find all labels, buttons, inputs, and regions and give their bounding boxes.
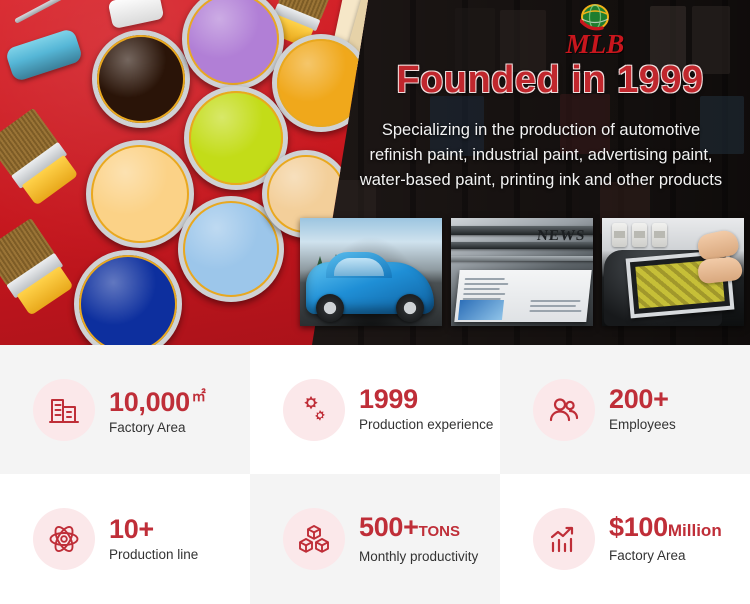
hero-subheadline: Specializing in the production of automo…: [336, 118, 746, 193]
company-stats-grid: 10,000㎡ Factory Area 1999 Production exp: [0, 345, 750, 604]
stat-card-factory-area: 10,000㎡ Factory Area: [0, 345, 250, 474]
stat-unit: ㎡: [192, 388, 206, 404]
paint-can-cream: [86, 140, 194, 248]
printed-color-block: [458, 300, 504, 320]
newspaper-masthead-text: NEWS: [536, 228, 586, 245]
ink-bottle: [612, 223, 627, 247]
stat-unit: Million: [668, 521, 722, 540]
paint-brush-icon: [0, 108, 76, 200]
stat-value: $100Million: [609, 513, 722, 545]
growth-bar-chart-icon: [533, 508, 595, 570]
stat-card-employees: 200+ Employees: [500, 345, 750, 474]
stat-label: Production experience: [359, 416, 493, 434]
hero-headline: Founded in 1999: [390, 58, 710, 102]
stat-value: 200+: [609, 385, 676, 414]
stat-text-block: 500+TONS Monthly productivity: [359, 513, 478, 566]
stat-text-block: 10,000㎡ Factory Area: [109, 382, 206, 437]
stat-label: Factory Area: [609, 547, 722, 565]
hand-pressing-screen: [697, 256, 743, 284]
ink-bottle: [632, 223, 647, 247]
mlb-logo-text: MLB: [546, 31, 644, 57]
about-us-banner: MLB Founded in 1999 Specializing in the …: [0, 0, 750, 604]
paint-brush-icon: [0, 218, 71, 310]
hero-section: MLB Founded in 1999 Specializing in the …: [0, 0, 750, 345]
stat-value: 10+: [109, 515, 198, 544]
stat-label: Monthly productivity: [359, 548, 478, 566]
car-wheel: [396, 294, 424, 322]
car-windshield-shape: [334, 258, 384, 276]
atom-molecule-icon: [33, 508, 95, 570]
mlb-logo: MLB: [546, 2, 644, 58]
white-roller-decoration: [108, 0, 165, 29]
stat-label: Employees: [609, 416, 676, 434]
stat-text-block: 200+ Employees: [609, 385, 676, 434]
stat-label: Factory Area: [109, 419, 206, 437]
product-thumbnail-row: NEWS: [300, 218, 746, 326]
stacked-boxes-icon: [283, 508, 345, 570]
globe-logo-icon: [580, 2, 610, 32]
stat-text-block: 10+ Production line: [109, 515, 198, 564]
ink-bottle: [652, 223, 667, 247]
people-group-icon: [533, 379, 595, 441]
stat-unit: TONS: [419, 523, 460, 540]
thumbnail-screen-printing[interactable]: [602, 218, 744, 326]
subheadline-line-3: water-based paint, printing ink and othe…: [336, 168, 746, 193]
stat-label: Production line: [109, 546, 198, 564]
stat-card-production-line: 10+ Production line: [0, 474, 250, 604]
factory-building-icon: [33, 379, 95, 441]
stat-text-block: 1999 Production experience: [359, 385, 493, 434]
paint-can-brown: [92, 30, 190, 128]
gears-icon: [283, 379, 345, 441]
thumbnail-printing-press[interactable]: NEWS: [451, 218, 593, 326]
car-wheel: [316, 294, 344, 322]
stat-value: 10,000㎡: [109, 382, 206, 417]
roller-handle-decoration: [14, 0, 66, 24]
stat-card-annual-revenue: $100Million Factory Area: [500, 474, 750, 604]
stat-value: 500+TONS: [359, 513, 478, 546]
thumbnail-automotive-refinish[interactable]: [300, 218, 442, 326]
stat-text-block: $100Million Factory Area: [609, 513, 722, 565]
stat-card-monthly-productivity: 500+TONS Monthly productivity: [250, 474, 500, 604]
paint-roller-icon: [5, 28, 84, 83]
paint-can-purple: [182, 0, 284, 90]
subheadline-line-1: Specializing in the production of automo…: [336, 118, 746, 143]
hand-pressing-screen: [696, 228, 741, 262]
stat-card-production-experience: 1999 Production experience: [250, 345, 500, 474]
subheadline-line-2: refinish paint, industrial paint, advert…: [336, 143, 746, 168]
paint-can-darkblue: [74, 250, 182, 345]
stat-value: 1999: [359, 385, 493, 414]
